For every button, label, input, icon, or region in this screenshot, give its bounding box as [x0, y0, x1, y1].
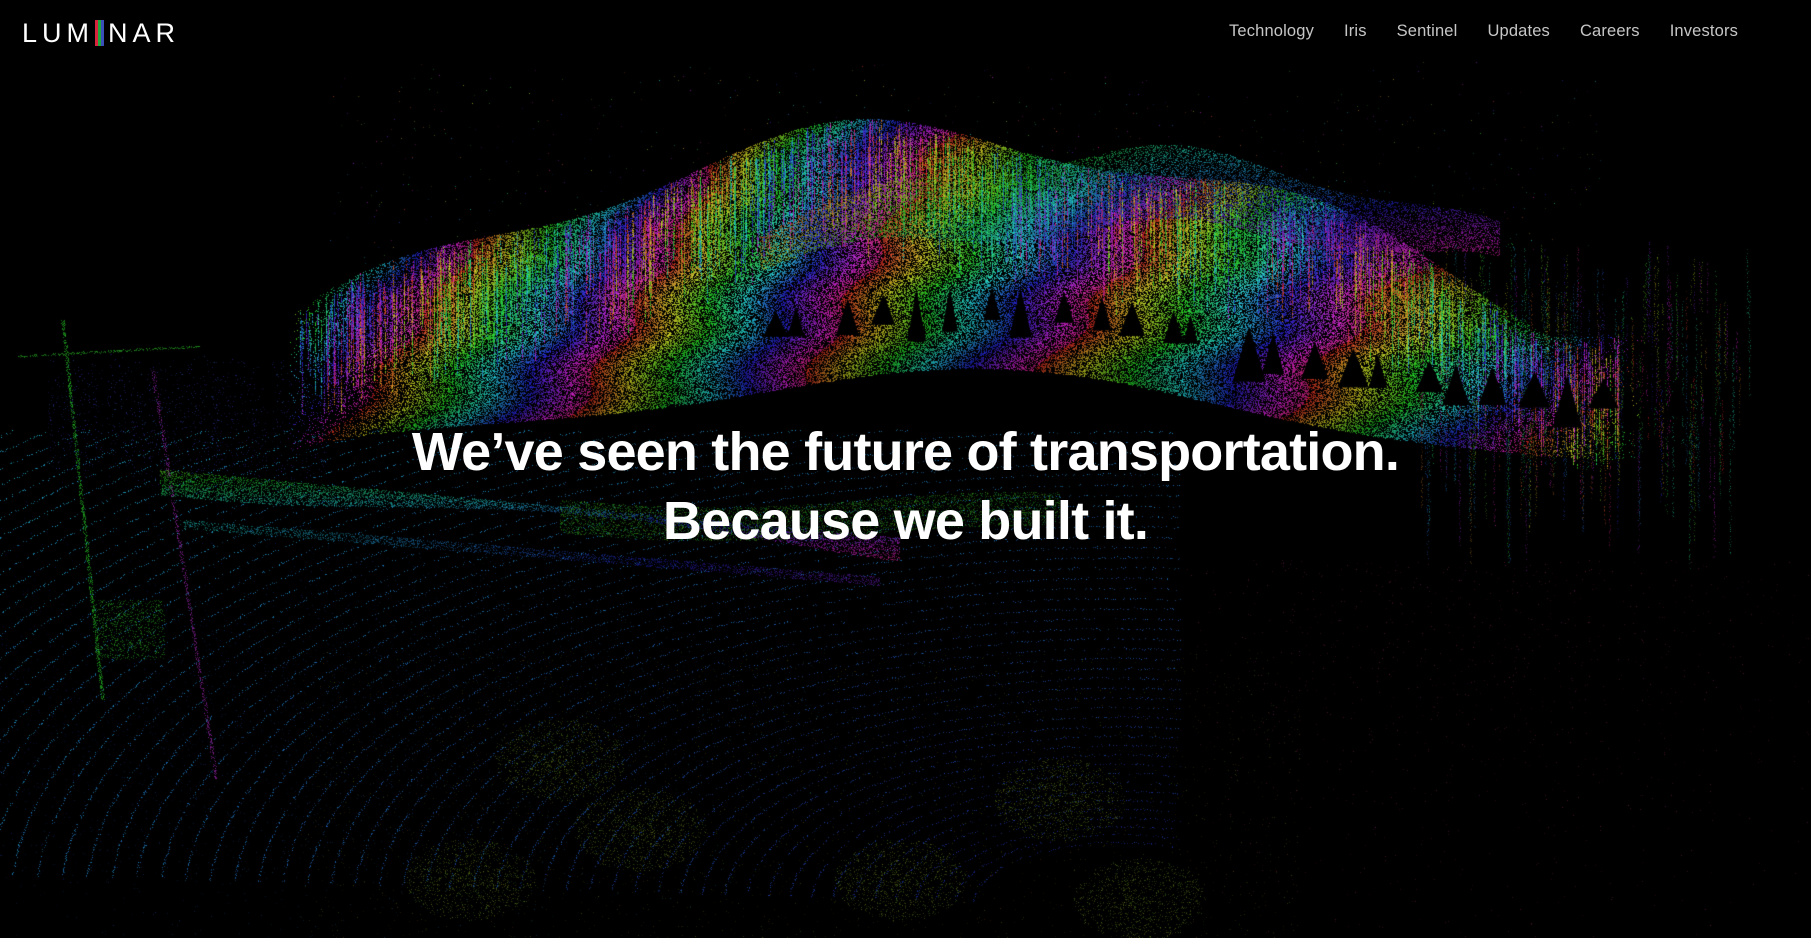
nav-item-technology[interactable]: Technology [1214, 22, 1329, 41]
logo-rgb-bars-icon [95, 19, 104, 46]
nav-item-sentinel[interactable]: Sentinel [1382, 22, 1473, 41]
page-root: LUM NAR Technology Iris Sentinel Updates… [0, 0, 1811, 938]
main-navigation: Technology Iris Sentinel Updates Careers… [1214, 22, 1753, 41]
nav-item-investors[interactable]: Investors [1655, 22, 1753, 41]
logo-bar-blue [101, 20, 104, 46]
logo-text-after: NAR [108, 20, 180, 47]
lidar-point-cloud-background [0, 0, 1811, 938]
nav-item-updates[interactable]: Updates [1472, 22, 1565, 41]
luminar-logo[interactable]: LUM NAR [22, 19, 180, 47]
nav-item-iris[interactable]: Iris [1329, 22, 1382, 41]
logo-text-before: LUM [22, 20, 94, 47]
nav-item-careers[interactable]: Careers [1565, 22, 1655, 41]
site-header: LUM NAR Technology Iris Sentinel Updates… [0, 0, 1811, 62]
